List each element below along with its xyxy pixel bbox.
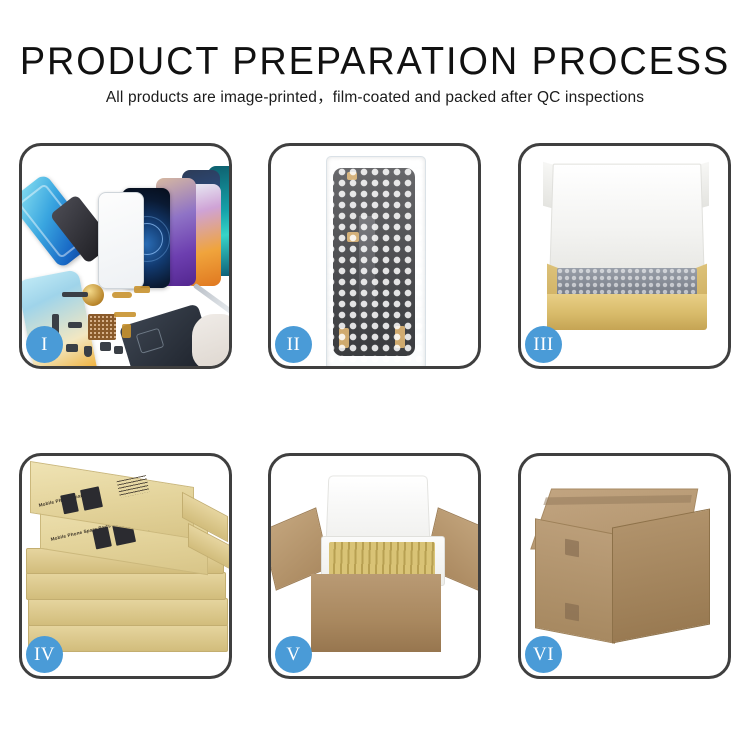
part-chip-4: [84, 346, 92, 357]
carton-seal-lower: [565, 603, 579, 622]
part-flex-cable-4: [122, 324, 131, 338]
step-panel-6[interactable]: VI: [518, 453, 731, 679]
part-flex-cable-1: [112, 292, 132, 298]
box-label-image-top-2: [80, 486, 103, 510]
carton-seal-upper: [565, 539, 579, 558]
part-flex-cable-3: [114, 312, 136, 317]
carton-left-face: [535, 518, 615, 644]
part-flex-cable-2: [134, 286, 150, 293]
carton-right-face: [612, 508, 710, 643]
step-badge-4: IV: [26, 636, 63, 673]
step-panel-1[interactable]: I: [19, 143, 232, 369]
step-panel-2[interactable]: II: [268, 143, 481, 369]
part-chip-6: [114, 346, 123, 354]
step-badge-5: V: [275, 636, 312, 673]
box-lid-white: [549, 164, 705, 281]
foam-box-lid: [326, 475, 431, 544]
copper-grille-part: [88, 314, 116, 340]
step-panel-5[interactable]: V: [268, 453, 481, 679]
part-chip-5: [100, 342, 111, 351]
step-badge-2: II: [275, 326, 312, 363]
stack-box-bottom-2: [28, 598, 228, 626]
kraft-boxes-inside: [329, 542, 435, 578]
step-badge-6: VI: [525, 636, 562, 673]
hand-holding-part: [192, 314, 232, 369]
process-grid: I II III: [0, 0, 750, 750]
tempered-glass-protector: [98, 192, 144, 289]
part-chip-3: [66, 344, 78, 352]
step-panel-3[interactable]: III: [518, 143, 731, 369]
box-front-kraft: [547, 294, 707, 330]
step-badge-3: III: [525, 326, 562, 363]
part-chip-1: [62, 292, 88, 297]
step-badge-1: I: [26, 326, 63, 363]
carton-body: [311, 574, 441, 652]
stack-box-bottom-3: [26, 572, 226, 600]
part-chip-8: [68, 322, 82, 328]
step-panel-4[interactable]: Mobile Phone Spare Parts Mobile Phone Sp…: [19, 453, 232, 679]
bubble-wrap-film: [326, 156, 426, 369]
